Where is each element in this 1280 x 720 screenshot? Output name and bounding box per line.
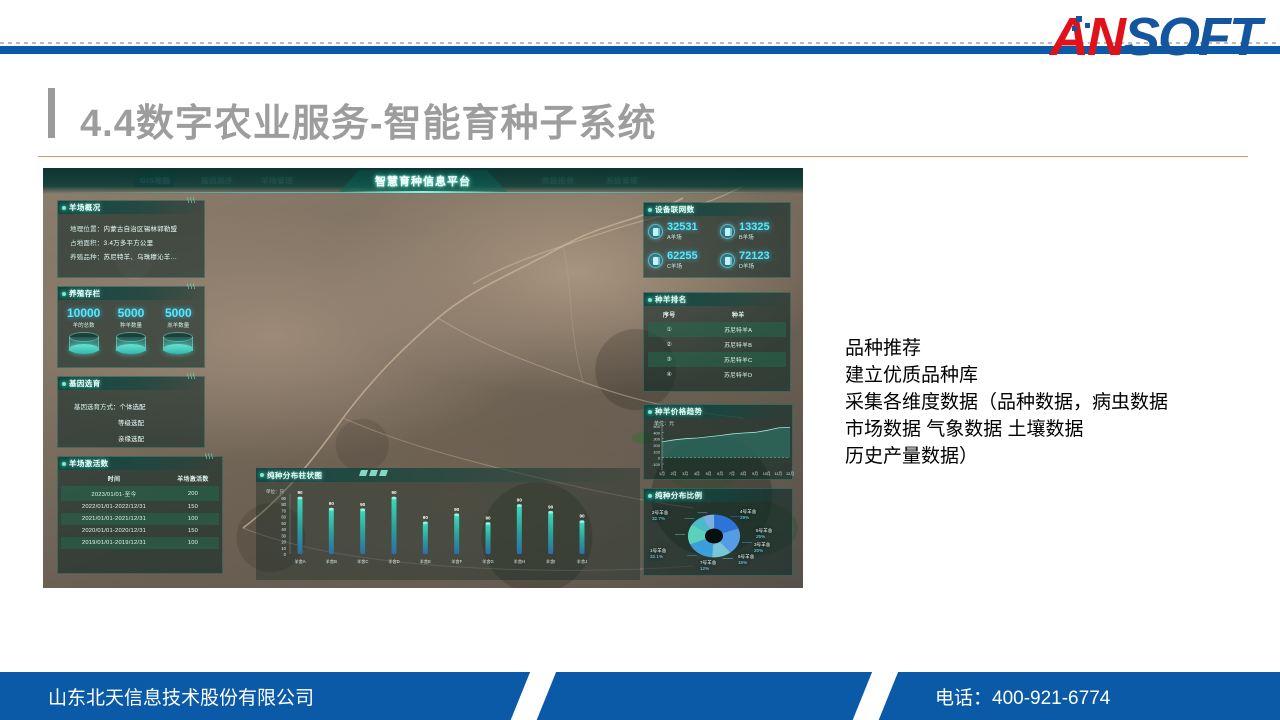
svg-text:50: 50 [281, 521, 286, 526]
note-line: 市场数据 气象数据 土壤数据 [845, 416, 1168, 443]
svg-text:羊舍H: 羊舍H [514, 558, 525, 565]
bullet-icon [648, 298, 652, 302]
svg-text:80: 80 [281, 502, 286, 507]
svg-text:11月: 11月 [774, 471, 782, 476]
cell-breed: 苏尼特羊D [690, 367, 786, 382]
svg-text:90: 90 [281, 496, 286, 501]
bullet-icon [62, 382, 66, 386]
panel-farm-activation: 羊场激活数 \\\ 时间 羊场激活数 2023/01/01-至今200 2022… [57, 456, 223, 574]
inventory-label: 种羊数量 [109, 321, 153, 329]
panel-header: 种羊排名 [644, 293, 790, 306]
svg-text:100: 100 [653, 449, 660, 454]
logo-pixel-1 [1076, 16, 1082, 22]
panel-purebred-bar: 纯种分布柱状图 单位：只010203040506070809090羊舍A90羊舍… [256, 468, 640, 580]
panel-purebred-ratio: 纯种分布比例 2号羊舍32.7% 4号羊舍29% 5号羊舍25% 3号羊舍20%… [643, 488, 793, 576]
column-header: 时间 [61, 471, 167, 486]
footer-slash-2 [848, 672, 902, 720]
cell-period: 2020/01/01-2020/12/31 [61, 525, 167, 537]
device-label: C羊场 [667, 262, 698, 270]
svg-text:12月: 12月 [786, 471, 794, 476]
device-icon [720, 224, 735, 239]
cell-period: 2021/01/01-2021/12/31 [61, 513, 167, 525]
svg-text:90: 90 [329, 501, 335, 506]
column-header: 序号 [648, 307, 690, 322]
cylinder-gauge-icon [116, 332, 146, 354]
svg-text:0: 0 [658, 456, 661, 461]
gene-option-row: 等级选配 [64, 417, 198, 427]
annotation-notes: 品种推荐 建立优质品种库 采集各维度数据（品种数据，病虫数据 市场数据 气象数据… [845, 335, 1168, 470]
price-trend-chart: 5004003002001000-1001月2月3月4月5月6月7月8月9月10… [644, 418, 794, 478]
panel-header: 种羊价格趋势 [644, 405, 792, 418]
svg-text:90: 90 [360, 502, 366, 507]
gene-option[interactable]: 个体选配 [120, 404, 146, 411]
panel-body: 地理位置：内蒙古自治区锡林郭勒盟 占地面积：3.4万多平方公里 养殖品种：苏尼特… [58, 214, 204, 266]
panel-body: 10000 羊的总数 5000 种羊数量 5000 羔羊数量 [58, 300, 204, 356]
svg-text:0: 0 [284, 552, 287, 557]
panel-breeding-ranking: 种羊排名 序号 种羊 ①苏尼特羊A ②苏尼特羊B ③苏尼特羊C ④苏尼特羊D [643, 292, 791, 392]
svg-text:羊舍F: 羊舍F [451, 558, 462, 565]
activation-table: 时间 羊场激活数 2023/01/01-至今200 2022/01/01-202… [61, 471, 219, 549]
device-stat: 62255C羊场 [648, 250, 714, 270]
table-header-row: 序号 种羊 [648, 307, 786, 322]
footer-slash-1 [506, 672, 560, 720]
cell-breed: 苏尼特羊B [690, 337, 786, 352]
gene-option[interactable]: 等级选配 [118, 420, 144, 427]
svg-text:90: 90 [517, 497, 523, 502]
pie-label-4: 4号羊舍29% [740, 509, 756, 521]
cell-period: 2019/01/01-2019/12/31 [61, 537, 167, 549]
panel-header: 纯种分布柱状图 [256, 468, 640, 482]
bullet-icon [260, 473, 264, 477]
panel-title: 纯种分布柱状图 [267, 470, 322, 481]
overview-value: 3.4万多平方公里 [104, 240, 154, 247]
panel-connected-devices: 设备联网数 32531A羊场 13325B羊场 62255C羊场 72123D [643, 202, 791, 278]
cylinder-gauge-icon [163, 332, 193, 354]
svg-text:400: 400 [653, 430, 660, 435]
svg-text:单位：只: 单位：只 [266, 488, 284, 495]
dashboard-screenshot: GIS地图 基因测序 羊场管理 数据报表 系统管理 智慧育种信息平台 羊场概况 … [43, 168, 803, 588]
svg-text:10: 10 [281, 546, 286, 551]
page-title: 4.4数字农业服务-智能育种子系统 [80, 92, 656, 147]
bullet-icon [62, 206, 66, 210]
table-row[interactable]: ②苏尼特羊B [648, 337, 786, 352]
footer-company-name: 山东北天信息技术股份有限公司 [48, 683, 314, 710]
inventory-stat: 5000 羔羊数量 [156, 307, 200, 354]
inventory-stats: 10000 羊的总数 5000 种羊数量 5000 羔羊数量 [60, 302, 202, 354]
cell-breed: 苏尼特羊C [690, 352, 786, 367]
table-row[interactable]: ③苏尼特羊C [648, 352, 786, 367]
cell-rank: ④ [648, 367, 690, 382]
table-row[interactable]: 2021/01/01-2021/12/31100 [61, 513, 219, 525]
pie-slice-value: 12% [700, 566, 709, 571]
svg-text:8月: 8月 [740, 471, 746, 476]
svg-text:200: 200 [653, 443, 660, 448]
cell-count: 100 [167, 513, 219, 525]
svg-text:4月: 4月 [694, 471, 700, 476]
pie-slice-value: 15% [738, 560, 747, 565]
panel-title: 纯种分布比例 [655, 490, 702, 501]
table-row[interactable]: 2023/01/01-至今200 [61, 486, 219, 501]
pie-slice-value: 32.7% [652, 516, 665, 521]
inventory-label: 羊的总数 [62, 321, 106, 329]
note-line: 建立优质品种库 [845, 362, 1168, 389]
cell-count: 150 [167, 501, 219, 513]
cell-count: 100 [167, 537, 219, 549]
bullet-icon [648, 208, 652, 212]
panel-header: 设备联网数 [644, 203, 790, 216]
cell-rank: ② [648, 337, 690, 352]
inventory-value: 5000 [109, 307, 153, 320]
panel-header: 纯种分布比例 [644, 489, 792, 502]
panel-body: 单位：元 5004003002001000-1001月2月3月4月5月6月7月8… [644, 418, 792, 480]
svg-text:羊舍G: 羊舍G [482, 558, 494, 565]
panel-deco-icon [360, 470, 387, 476]
overview-value: 内蒙古自治区锡林郭勒盟 [104, 226, 178, 233]
svg-text:90: 90 [297, 490, 303, 495]
panel-body: 序号 种羊 ①苏尼特羊A ②苏尼特羊B ③苏尼特羊C ④苏尼特羊D [644, 306, 790, 383]
table-row[interactable]: 2020/01/01-2020/12/31150 [61, 525, 219, 537]
svg-text:羊舍J: 羊舍J [577, 558, 587, 565]
pie-label-5: 5号羊舍25% [756, 528, 772, 540]
logo-pixel-2 [1085, 23, 1090, 28]
cell-breed: 苏尼特羊A [690, 322, 786, 337]
svg-text:6月: 6月 [717, 471, 723, 476]
overview-label: 占地面积： [70, 240, 104, 247]
panel-ticks-icon: \\\ [205, 454, 214, 461]
inventory-value: 10000 [62, 307, 106, 320]
note-line: 历史产量数据） [845, 443, 1168, 470]
pie-label-2: 2号羊舍32.7% [652, 510, 668, 522]
cell-rank: ① [648, 322, 690, 337]
svg-text:90: 90 [391, 490, 397, 495]
overview-value: 苏尼特羊、乌珠穆沁羊… [104, 254, 178, 261]
cell-count: 150 [167, 525, 219, 537]
svg-text:3月: 3月 [682, 471, 688, 476]
pie-label-1: 1号羊舍32.1% [650, 548, 666, 560]
bullet-icon [62, 292, 66, 296]
panel-body: 2号羊舍32.7% 4号羊舍29% 5号羊舍25% 3号羊舍20% 6号羊舍15… [644, 502, 792, 576]
pie-label-7: 7号羊舍12% [700, 560, 716, 572]
svg-text:300: 300 [653, 437, 660, 442]
pie-label-3: 3号羊舍20% [754, 542, 770, 554]
table-row[interactable]: 2019/01/01-2019/12/31100 [61, 537, 219, 549]
device-value: 13325 [739, 221, 770, 233]
device-value: 72123 [739, 250, 770, 262]
overview-label: 养殖品种： [70, 254, 104, 261]
logo-soft-text: SOFT [1124, 7, 1260, 67]
table-header-row: 时间 羊场激活数 [61, 471, 219, 486]
device-stat-grid: 32531A羊场 13325B羊场 62255C羊场 72123D羊场 [644, 216, 790, 276]
svg-text:90: 90 [579, 514, 585, 519]
logo-pixel-3 [1072, 26, 1077, 31]
panel-title: 养殖存栏 [69, 288, 101, 299]
panel-header: 羊场概况 \\\ [58, 201, 204, 214]
panel-livestock-inventory: 养殖存栏 \\\ 10000 羊的总数 5000 种羊数量 [57, 286, 205, 368]
overview-row: 占地面积：3.4万多平方公里 [70, 237, 198, 247]
device-label: B羊场 [739, 233, 770, 241]
device-icon [648, 253, 663, 268]
svg-text:1月: 1月 [659, 471, 665, 476]
gene-lead-label: 基因选育方式： [74, 404, 120, 411]
bullet-icon [648, 410, 652, 414]
svg-text:10月: 10月 [763, 471, 771, 476]
inventory-stat: 10000 羊的总数 [62, 307, 106, 354]
cell-period: 2022/01/01-2022/12/31 [61, 501, 167, 513]
svg-text:90: 90 [548, 504, 554, 509]
panel-title: 设备联网数 [655, 204, 695, 215]
panel-title: 羊场概况 [69, 202, 101, 213]
bullet-icon [62, 462, 66, 466]
panel-title: 基因选育 [69, 378, 101, 389]
gene-option[interactable]: 亲缘选配 [118, 436, 144, 443]
ranking-table: 序号 种羊 ①苏尼特羊A ②苏尼特羊B ③苏尼特羊C ④苏尼特羊D [648, 307, 786, 382]
svg-text:2月: 2月 [671, 471, 677, 476]
overview-row: 养殖品种：苏尼特羊、乌珠穆沁羊… [70, 251, 198, 261]
overview-row: 地理位置：内蒙古自治区锡林郭勒盟 [70, 223, 198, 233]
panel-farm-overview: 羊场概况 \\\ 地理位置：内蒙古自治区锡林郭勒盟 占地面积：3.4万多平方公里… [57, 200, 205, 278]
note-line: 品种推荐 [845, 335, 1168, 362]
ansoft-logo: ANSOFT [886, 6, 1266, 68]
svg-text:60: 60 [281, 515, 286, 520]
inventory-label: 羔羊数量 [156, 321, 200, 329]
device-stat: 72123D羊场 [720, 250, 786, 270]
svg-text:90: 90 [423, 515, 429, 520]
svg-text:羊舍D: 羊舍D [388, 558, 399, 565]
panel-header: 基因选育 \\\ [58, 377, 204, 390]
svg-text:7月: 7月 [729, 471, 735, 476]
pie-label-6: 6号羊舍15% [738, 554, 754, 566]
svg-text:9月: 9月 [752, 471, 758, 476]
footer-phone: 电话：400-921-6774 [935, 683, 1110, 710]
overview-label: 地理位置： [70, 226, 104, 233]
dashboard-title-underline [343, 191, 503, 193]
svg-text:20: 20 [281, 540, 286, 545]
cell-count: 200 [167, 486, 219, 501]
panel-price-trend: 种羊价格趋势 单位：元 5004003002001000-1001月2月3月4月… [643, 404, 793, 480]
gene-option-row: 亲缘选配 [64, 433, 198, 443]
column-header: 羊场激活数 [167, 471, 219, 486]
inventory-stat: 5000 种羊数量 [109, 307, 153, 354]
device-label: A羊场 [667, 233, 698, 241]
bullet-icon [648, 494, 652, 498]
panel-gene-selection: 基因选育 \\\ 基因选育方式：个体选配 等级选配 亲缘选配 [57, 376, 205, 448]
pie-slice-value: 25% [756, 534, 765, 539]
svg-text:5月: 5月 [706, 471, 712, 476]
panel-ticks-icon: \\\ [187, 284, 196, 291]
svg-text:羊舍C: 羊舍C [357, 558, 368, 565]
svg-text:40: 40 [281, 527, 286, 532]
panel-title: 羊场激活数 [69, 458, 109, 469]
device-value: 32531 [667, 221, 698, 233]
svg-text:-100: -100 [652, 462, 661, 467]
slide-canvas: ANSOFT 4.4数字农业服务-智能育种子系统 品种推荐 建立优质品种库 采集… [0, 0, 1280, 720]
device-stat: 13325B羊场 [720, 221, 786, 241]
device-icon [648, 224, 663, 239]
column-header: 种羊 [690, 307, 786, 322]
table-row[interactable]: 2022/01/01-2022/12/31150 [61, 501, 219, 513]
purebred-bar-chart: 单位：只010203040506070809090羊舍A90羊舍B90羊舍C90… [256, 482, 640, 578]
chart-unit-label: 单位：元 [654, 420, 674, 427]
cell-rank: ③ [648, 352, 690, 367]
cell-period: 2023/01/01-至今 [61, 486, 167, 501]
gene-option-row: 基因选育方式：个体选配 [74, 401, 198, 411]
table-row[interactable]: ①苏尼特羊A [648, 322, 786, 337]
device-icon [720, 253, 735, 268]
panel-body: 时间 羊场激活数 2023/01/01-至今200 2022/01/01-202… [58, 470, 222, 550]
svg-text:90: 90 [454, 507, 460, 512]
table-row[interactable]: ④苏尼特羊D [648, 367, 786, 382]
pie-slice-value: 29% [740, 515, 749, 520]
slide-footer: 山东北天信息技术股份有限公司 电话：400-921-6774 [0, 672, 1280, 720]
svg-text:羊舍I: 羊舍I [546, 558, 556, 565]
device-stat: 32531A羊场 [648, 221, 714, 241]
panel-title: 种羊排名 [655, 294, 687, 305]
svg-text:90: 90 [485, 516, 491, 521]
pie-slice-value: 32.1% [650, 554, 663, 559]
logo-an-text: AN [1050, 7, 1124, 67]
svg-text:30: 30 [281, 533, 286, 538]
pie-slice-value: 20% [754, 548, 763, 553]
svg-text:70: 70 [281, 508, 286, 513]
inventory-value: 5000 [156, 307, 200, 320]
svg-text:羊舍A: 羊舍A [294, 558, 305, 565]
svg-text:羊舍E: 羊舍E [420, 558, 431, 565]
panel-ticks-icon: \\\ [187, 198, 196, 205]
device-value: 62255 [667, 250, 698, 262]
svg-text:羊舍B: 羊舍B [326, 558, 337, 565]
title-divider [38, 156, 1248, 157]
device-label: D羊场 [739, 262, 770, 270]
panel-header: 羊场激活数 \\\ [58, 457, 222, 470]
title-accent-bar [48, 88, 55, 138]
panel-title: 种羊价格趋势 [655, 406, 702, 417]
panel-header: 养殖存栏 \\\ [58, 287, 204, 300]
dashboard-title: 智慧育种信息平台 [339, 170, 507, 192]
note-line: 采集各维度数据（品种数据，病虫数据 [845, 389, 1168, 416]
panel-ticks-icon: \\\ [187, 374, 196, 381]
panel-body: 基因选育方式：个体选配 等级选配 亲缘选配 [58, 390, 204, 448]
cylinder-gauge-icon [69, 332, 99, 354]
